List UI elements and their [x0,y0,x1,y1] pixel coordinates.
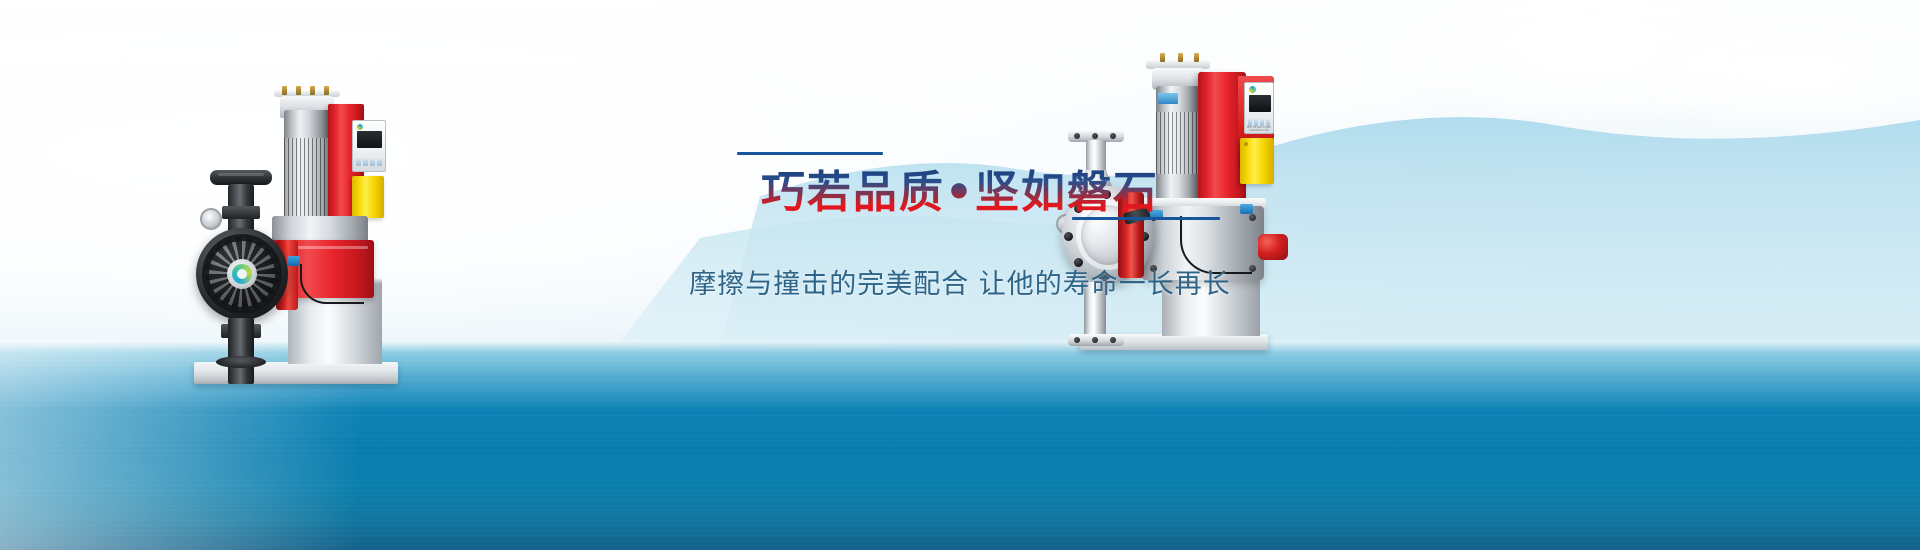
bottom-outlet-pipe [228,318,254,384]
panel-caption: METERING PUMP CONTROLLER [1245,126,1273,132]
brass-terminal-icon [1160,53,1165,62]
brass-terminal-icon [310,86,315,95]
banner-headline: 巧若品质•坚如磐石 [761,169,1159,217]
lcd-screen [1249,95,1271,112]
keypad [1248,119,1270,126]
banner-subheadline: 摩擦与撞击的完美配合 让他的寿命一长再长 [689,262,1231,301]
rule-bottom-wrap [700,217,1220,220]
bolt-icon [1110,337,1116,343]
controller-display-panel: METERING PUMP CONTROLLER [1244,82,1274,134]
manufacturer-logo-icon [357,124,363,130]
brass-terminal-icon [296,86,301,95]
banner-copy: 巧若品质•坚如磐石 摩擦与撞击的完美配合 让他的寿命一长再长 [0,152,1920,301]
decorative-rule-top [737,152,883,155]
motor-nameplate [1158,93,1178,104]
manufacturer-logo-icon [1249,86,1256,93]
bolt-icon [1092,337,1098,343]
bolt-icon [1110,133,1116,139]
brass-terminal-icon [282,86,287,95]
bolt-icon [1074,337,1080,343]
bolt-icon [1074,133,1080,139]
hero-banner: METERING PUMP CONTROLLER [0,0,1920,550]
bolt-icon [1092,133,1098,139]
bottom-outlet-flange [1068,334,1124,346]
decorative-rule-bottom [1072,217,1220,220]
brass-terminal-icon [1194,53,1199,62]
brass-terminal-icon [324,86,329,95]
outlet-foot-flange [216,356,266,368]
brass-terminal-icon [1178,53,1183,62]
lcd-screen [357,131,382,148]
